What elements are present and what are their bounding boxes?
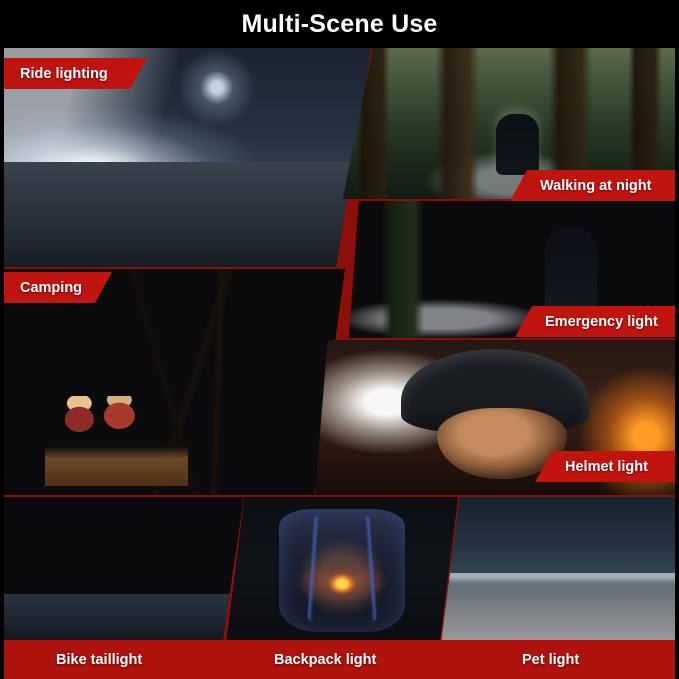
label-pet-light: Pet light (522, 640, 579, 679)
label-text: Backpack light (274, 652, 376, 668)
label-text: Helmet light (565, 459, 648, 475)
page-title: Multi-Scene Use (0, 0, 679, 48)
scene-collage: Ride lighting Walking at night Emergency… (4, 48, 675, 679)
label-camping: Camping (4, 272, 112, 303)
panel-backpack-light[interactable] (226, 497, 458, 644)
label-text: Ride lighting (20, 66, 108, 82)
bottom-caption-strip: Bike taillight Backpack light Pet light (4, 640, 675, 679)
image-pet-light (441, 497, 675, 644)
label-emergency-light: Emergency light (515, 306, 675, 337)
label-backpack-light: Backpack light (274, 640, 376, 679)
label-ride-lighting: Ride lighting (4, 58, 147, 89)
label-text: Emergency light (545, 314, 658, 330)
panel-pet-light[interactable] (441, 497, 675, 644)
image-bike-taillight (4, 497, 244, 644)
label-text: Walking at night (540, 178, 651, 194)
label-walking-at-night: Walking at night (510, 170, 675, 201)
panel-bike-taillight[interactable] (4, 497, 244, 644)
product-infographic: Multi-Scene Use Ride lighting Walking at… (0, 0, 679, 679)
image-backpack-light (226, 497, 458, 644)
label-bike-taillight: Bike taillight (56, 640, 142, 679)
label-text: Pet light (522, 652, 579, 668)
label-text: Bike taillight (56, 652, 142, 668)
label-helmet-light: Helmet light (535, 451, 675, 482)
label-text: Camping (20, 280, 82, 296)
